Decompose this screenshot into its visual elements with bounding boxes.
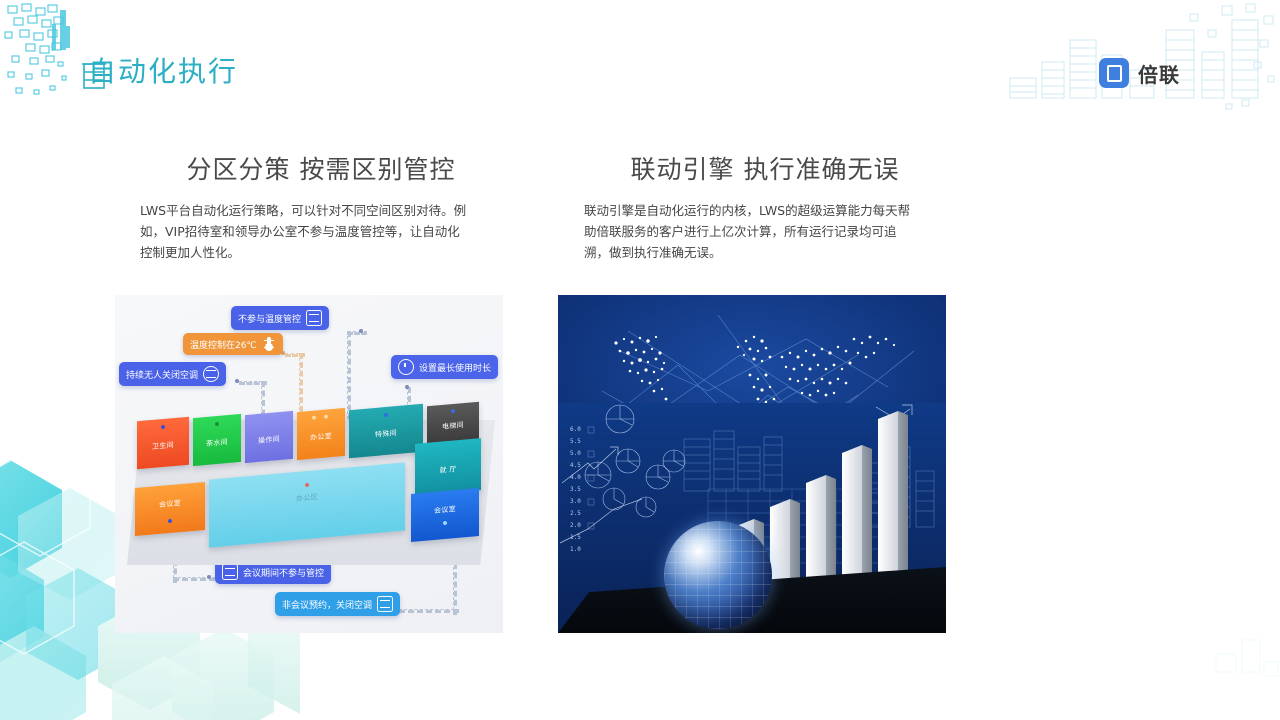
connector-line — [239, 381, 267, 385]
column-right: 联动引擎 执行准确无误 联动引擎是自动化运行的内核，LWS的超级运算能力每天帮助… — [558, 150, 958, 276]
connector-line — [347, 331, 367, 335]
column-right-heading: 联动引擎 执行准确无误 — [558, 150, 958, 186]
svg-text:3.5: 3.5 — [570, 486, 581, 493]
connector-dot — [359, 329, 363, 333]
svg-text:5.0: 5.0 — [570, 450, 581, 457]
connector-line — [285, 353, 305, 357]
room-label: 茶水间 — [206, 437, 228, 449]
thermometer-icon — [262, 337, 276, 351]
data-visualization-figure: 6.05.55.0 4.54.03.5 3.02.52.0 1.51.0 — [558, 295, 946, 633]
badge-label: 非会议预约，关闭空调 — [282, 598, 372, 611]
square-logo-icon — [1099, 58, 1129, 88]
badge-temperature-26[interactable]: 温度控制在26℃ — [183, 333, 283, 355]
room-block[interactable]: 会议室 — [411, 488, 479, 542]
globe-icon — [664, 521, 772, 629]
badge-max-usage-duration[interactable]: 设置最长使用时长 — [391, 355, 498, 379]
room-block[interactable]: 卫生间 — [137, 417, 189, 470]
room-block[interactable]: 办公室 — [297, 408, 345, 460]
column-left-body: LWS平台自动化运行策略，可以针对不同空间区别对待。例如，VIP招待室和领导办公… — [140, 200, 468, 263]
badge-label: 会议期间不参与管控 — [243, 566, 324, 579]
room-label: 操作间 — [258, 434, 280, 446]
room-block[interactable]: 会议室 — [135, 482, 205, 536]
badge-label: 持续无人关闭空调 — [126, 368, 198, 381]
brand-logo: 倍联 — [1099, 58, 1180, 88]
svg-text:2.0: 2.0 — [570, 522, 581, 529]
room-label: 电梯间 — [442, 420, 464, 432]
room-label: 就 厅 — [439, 464, 456, 475]
room-block[interactable]: 茶水间 — [193, 414, 241, 466]
timer-clock-icon — [398, 359, 414, 375]
room-label: 办公区 — [296, 492, 318, 504]
svg-text:1.0: 1.0 — [570, 546, 581, 553]
corner-grid-decoration-icon — [1100, 600, 1280, 720]
connector-dot — [235, 379, 239, 383]
page-title: 自动化执行 — [88, 50, 238, 90]
svg-text:4.5: 4.5 — [570, 462, 581, 469]
column-left: 分区分策 按需区别管控 LWS平台自动化运行策略，可以针对不同空间区别对待。例如… — [115, 150, 515, 276]
connector-dot — [405, 385, 409, 389]
room-label: 卫生间 — [152, 440, 174, 452]
badge-no-booking-ac-off[interactable]: 非会议预约，关闭空调 — [275, 592, 400, 616]
svg-text:6.0: 6.0 — [570, 426, 581, 433]
badge-label: 不参与温度管控 — [238, 312, 301, 325]
room-label: 办公室 — [310, 431, 332, 443]
connector-dot — [207, 575, 211, 579]
badge-auto-off-when-empty[interactable]: 持续无人关闭空调 — [119, 362, 226, 386]
svg-text:3.0: 3.0 — [570, 498, 581, 505]
motion-sensor-icon — [203, 366, 219, 382]
badge-label: 温度控制在26℃ — [190, 338, 257, 351]
badge-no-temperature-control[interactable]: 不参与温度管控 — [231, 306, 329, 330]
connector-line — [399, 609, 459, 613]
svg-text:1.5: 1.5 — [570, 534, 581, 541]
badge-label: 设置最长使用时长 — [419, 361, 491, 374]
room-block[interactable]: 操作间 — [245, 411, 293, 463]
room-label: 特殊间 — [375, 428, 397, 440]
floorplan-figure: 不参与温度管控 温度控制在26℃ 持续无人关闭空调 设置最长使用时长 会议期间不… — [115, 295, 503, 633]
column-left-heading: 分区分策 按需区别管控 — [115, 150, 515, 186]
slide-header: 自动化执行 倍联 — [0, 0, 1280, 120]
svg-text:2.5: 2.5 — [570, 510, 581, 517]
meeting-room-icon — [222, 564, 238, 580]
calendar-booking-icon — [377, 596, 393, 612]
svg-text:5.5: 5.5 — [570, 438, 581, 445]
svg-text:4.0: 4.0 — [570, 474, 581, 481]
room-block[interactable]: 就 厅 — [415, 438, 481, 496]
column-right-body: 联动引擎是自动化运行的内核，LWS的超级运算能力每天帮助倍联服务的客户进行上亿次… — [584, 200, 916, 263]
slide: 自动化执行 倍联 分区分策 按需区别管控 LWS平台自动化运行策略，可以针对不同… — [0, 0, 1280, 720]
brand-name: 倍联 — [1138, 59, 1180, 88]
room-block[interactable]: 特殊间 — [349, 404, 423, 458]
room-label: 会议室 — [434, 504, 456, 516]
room-label: 会议室 — [159, 498, 181, 510]
document-list-icon — [306, 310, 322, 326]
